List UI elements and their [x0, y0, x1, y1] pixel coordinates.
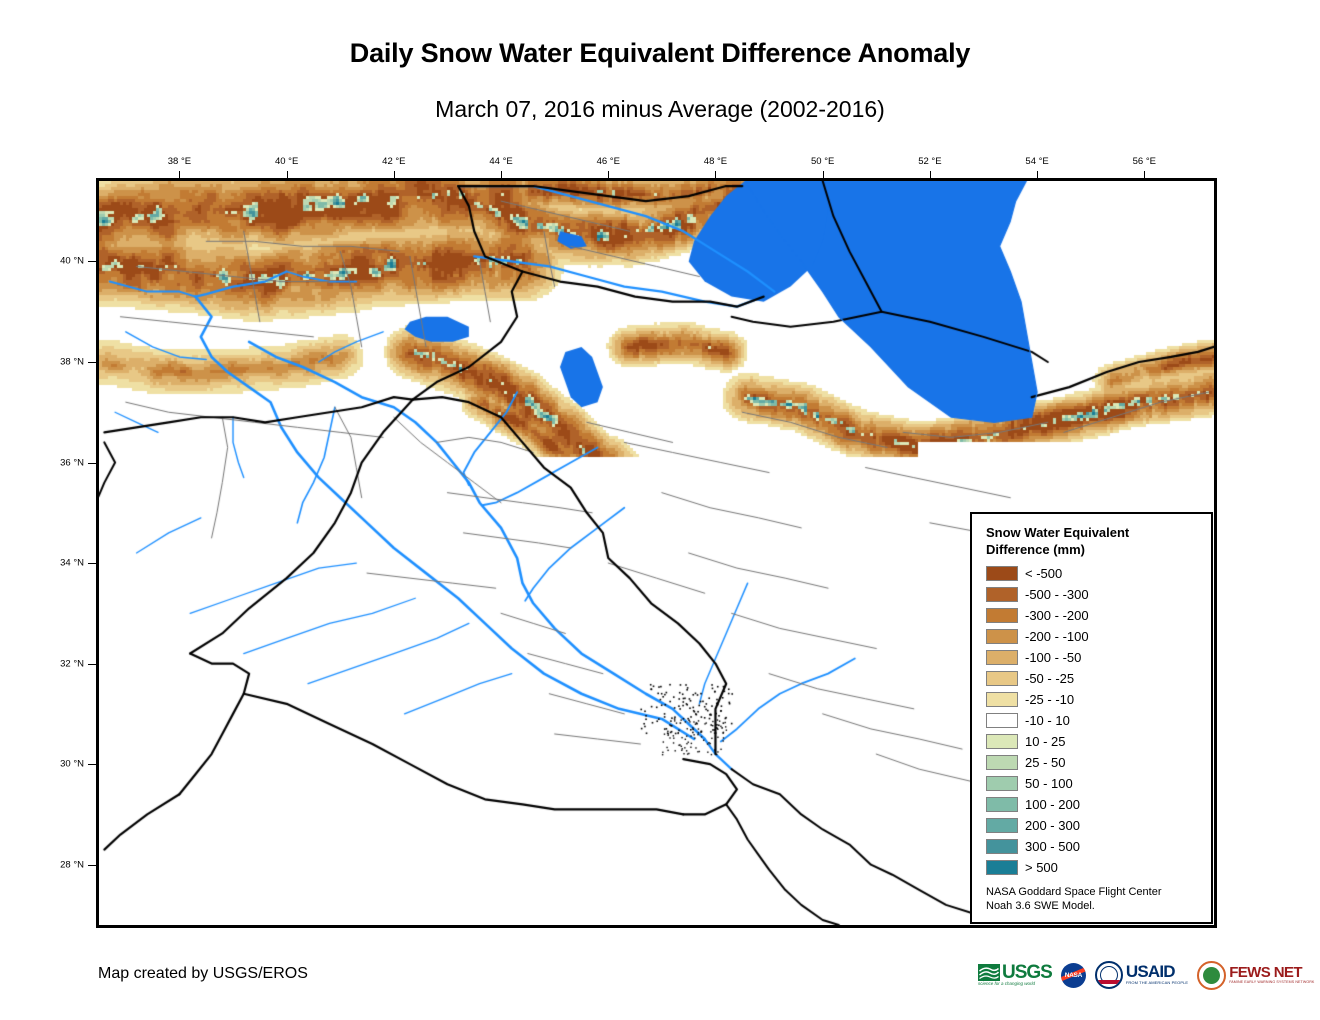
lon-tick-label: 44 °E	[489, 156, 512, 167]
lon-tick	[287, 171, 288, 178]
legend-swatch	[986, 650, 1018, 665]
legend-swatch	[986, 713, 1018, 728]
legend-swatch	[986, 587, 1018, 602]
usgs-tagline: science for a changing world	[978, 981, 1035, 987]
lat-tick	[88, 362, 96, 363]
lon-tick-label: 46 °E	[597, 156, 620, 167]
usgs-logo: USGS science for a changing world	[978, 958, 1052, 992]
legend-title-line2: Difference (mm)	[986, 541, 1186, 558]
lon-tick	[179, 171, 180, 178]
lat-tick	[88, 463, 96, 464]
map-page: Daily Snow Water Equivalent Difference A…	[0, 0, 1320, 1020]
legend-swatch	[986, 671, 1018, 686]
logo-strip: USGS science for a changing world NASA U…	[978, 957, 1314, 993]
legend-label: 100 - 200	[1025, 797, 1080, 812]
fewsnet-logo: FEWS NET FAMINE EARLY WARNING SYSTEMS NE…	[1197, 958, 1314, 992]
legend-row: > 500	[986, 857, 1211, 878]
legend-swatch	[986, 566, 1018, 581]
lon-tick-label: 56 °E	[1133, 156, 1156, 167]
legend-row: -50 - -25	[986, 668, 1211, 689]
legend-label: > 500	[1025, 860, 1058, 875]
lon-tick	[608, 171, 609, 178]
legend-title-line1: Snow Water Equivalent	[986, 524, 1186, 541]
map-legend: Snow Water Equivalent Difference (mm) < …	[970, 512, 1213, 924]
usaid-logo: USAID FROM THE AMERICAN PEOPLE	[1095, 958, 1188, 992]
lon-tick	[715, 171, 716, 178]
legend-swatch	[986, 776, 1018, 791]
usaid-seal-bar	[1097, 980, 1121, 984]
usgs-wordmark: USGS	[1002, 964, 1052, 981]
lat-tick-label: 34 °N	[38, 558, 84, 569]
lon-tick	[823, 171, 824, 178]
legend-row: 300 - 500	[986, 836, 1211, 857]
lon-tick-label: 42 °E	[382, 156, 405, 167]
usaid-wordmark: USAID	[1126, 964, 1188, 980]
legend-label: 200 - 300	[1025, 818, 1080, 833]
legend-label: -100 - -50	[1025, 650, 1081, 665]
legend-label: -200 - -100	[1025, 629, 1089, 644]
lon-tick-label: 54 °E	[1025, 156, 1048, 167]
nasa-wordmark: NASA	[1065, 972, 1082, 979]
nasa-meatball-icon: NASA	[1061, 963, 1086, 988]
legend-row: 50 - 100	[986, 773, 1211, 794]
lat-tick	[88, 664, 96, 665]
legend-label: -300 - -200	[1025, 608, 1089, 623]
legend-row: < -500	[986, 563, 1211, 584]
legend-swatch	[986, 734, 1018, 749]
legend-label: < -500	[1025, 566, 1062, 581]
legend-row: -200 - -100	[986, 626, 1211, 647]
legend-credit-line2: Noah 3.6 SWE Model.	[986, 899, 1211, 913]
legend-label: -10 - 10	[1025, 713, 1070, 728]
legend-title: Snow Water Equivalent Difference (mm)	[986, 524, 1186, 558]
usaid-seal-icon	[1095, 961, 1123, 989]
lon-tick-label: 52 °E	[918, 156, 941, 167]
page-subtitle: March 07, 2016 minus Average (2002-2016)	[0, 96, 1320, 123]
legend-row: -500 - -300	[986, 584, 1211, 605]
legend-label: -500 - -300	[1025, 587, 1089, 602]
legend-swatch	[986, 692, 1018, 707]
lon-tick	[501, 171, 502, 178]
usaid-tagline: FROM THE AMERICAN PEOPLE	[1126, 980, 1188, 986]
legend-swatch	[986, 818, 1018, 833]
legend-row: 25 - 50	[986, 752, 1211, 773]
lat-tick	[88, 764, 96, 765]
legend-row: -25 - -10	[986, 689, 1211, 710]
legend-row: 10 - 25	[986, 731, 1211, 752]
lon-tick-label: 48 °E	[704, 156, 727, 167]
legend-row: -10 - 10	[986, 710, 1211, 731]
legend-swatch	[986, 755, 1018, 770]
legend-swatch	[986, 839, 1018, 854]
fewsnet-globe-inner	[1203, 967, 1220, 984]
legend-row: 200 - 300	[986, 815, 1211, 836]
legend-row: -300 - -200	[986, 605, 1211, 626]
legend-label: 25 - 50	[1025, 755, 1065, 770]
lat-tick	[88, 865, 96, 866]
legend-row: 100 - 200	[986, 794, 1211, 815]
lat-tick-label: 36 °N	[38, 457, 84, 468]
lat-tick	[88, 563, 96, 564]
legend-swatch	[986, 797, 1018, 812]
legend-label: -25 - -10	[1025, 692, 1074, 707]
lat-tick	[88, 261, 96, 262]
legend-swatch	[986, 608, 1018, 623]
lon-tick	[394, 171, 395, 178]
usgs-mark-icon	[978, 964, 1000, 981]
legend-label: 300 - 500	[1025, 839, 1080, 854]
lon-tick-label: 38 °E	[168, 156, 191, 167]
legend-items: < -500-500 - -300-300 - -200-200 - -100-…	[986, 563, 1211, 878]
legend-label: 10 - 25	[1025, 734, 1065, 749]
fewsnet-wordmark: FEWS NET	[1229, 965, 1314, 980]
fewsnet-globe-icon	[1197, 961, 1226, 990]
lat-tick-label: 38 °N	[38, 356, 84, 367]
lat-tick-label: 32 °N	[38, 658, 84, 669]
lon-tick	[930, 171, 931, 178]
lon-tick-label: 40 °E	[275, 156, 298, 167]
lat-tick-label: 40 °N	[38, 256, 84, 267]
legend-credit: NASA Goddard Space Flight Center Noah 3.…	[986, 885, 1211, 913]
legend-swatch	[986, 860, 1018, 875]
lon-tick-label: 50 °E	[811, 156, 834, 167]
fewsnet-tagline: FAMINE EARLY WARNING SYSTEMS NETWORK	[1229, 980, 1314, 985]
nasa-logo: NASA	[1061, 958, 1086, 992]
lat-tick-label: 28 °N	[38, 859, 84, 870]
lat-tick-label: 30 °N	[38, 759, 84, 770]
legend-label: 50 - 100	[1025, 776, 1073, 791]
legend-credit-line1: NASA Goddard Space Flight Center	[986, 885, 1211, 899]
lon-tick	[1144, 171, 1145, 178]
lon-tick	[1037, 171, 1038, 178]
footer-credit: Map created by USGS/EROS	[98, 965, 308, 983]
legend-label: -50 - -25	[1025, 671, 1074, 686]
legend-swatch	[986, 629, 1018, 644]
page-title: Daily Snow Water Equivalent Difference A…	[0, 38, 1320, 69]
legend-row: -100 - -50	[986, 647, 1211, 668]
